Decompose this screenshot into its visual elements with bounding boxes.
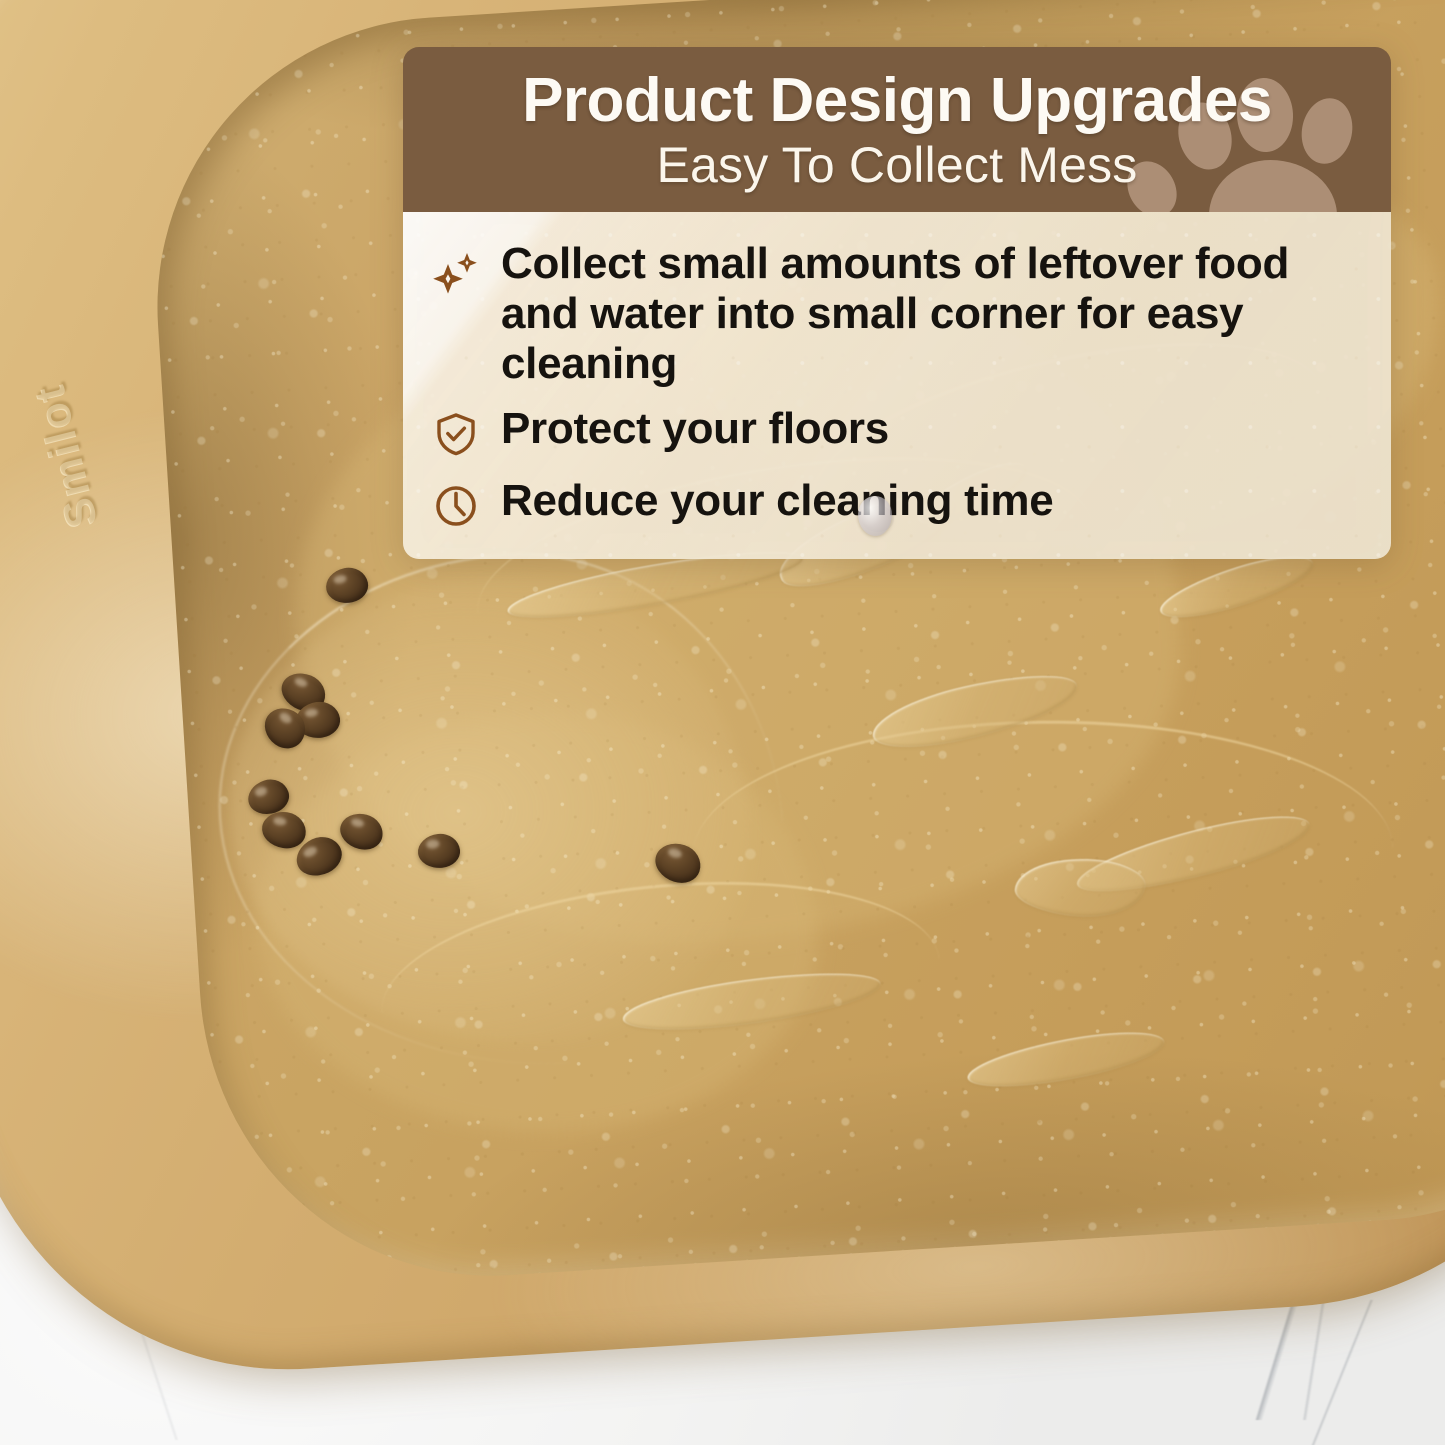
feature-bullet-text: Protect your floors	[501, 403, 889, 454]
collecting-corner-meniscus	[204, 538, 797, 1084]
feature-bullet-item: Protect your floors	[429, 403, 1365, 461]
water-droplet	[858, 496, 892, 536]
panel-header-banner: Product Design Upgrades Easy To Collect …	[403, 47, 1391, 212]
water-streak	[867, 662, 1083, 759]
water-pool	[244, 696, 829, 1150]
feature-bullet-item: Collect small amounts of leftover food a…	[429, 238, 1365, 388]
water-streak	[964, 1022, 1168, 1098]
water-rivulet	[372, 858, 949, 1115]
feature-bullet-text: Collect small amounts of leftover food a…	[501, 238, 1365, 388]
shield-check-icon	[429, 407, 483, 461]
feature-bullet-item: Reduce your cleaning time	[429, 475, 1365, 533]
water-streak	[1071, 802, 1315, 907]
panel-title: Product Design Upgrades	[433, 69, 1361, 133]
product-info-panel: Product Design Upgrades Easy To Collect …	[403, 47, 1391, 559]
water-rivulet	[692, 717, 1395, 987]
water-streak	[1013, 854, 1147, 922]
clock-icon	[429, 479, 483, 533]
panel-body: Collect small amounts of leftover food a…	[403, 212, 1391, 558]
water-streak	[620, 962, 884, 1040]
feature-bullet-text: Reduce your cleaning time	[501, 475, 1053, 526]
sparkle-icon	[429, 248, 483, 302]
collecting-corner-pool	[215, 560, 763, 1062]
panel-subtitle: Easy To Collect Mess	[433, 139, 1361, 192]
feature-bullet-list: Collect small amounts of leftover food a…	[429, 238, 1365, 532]
